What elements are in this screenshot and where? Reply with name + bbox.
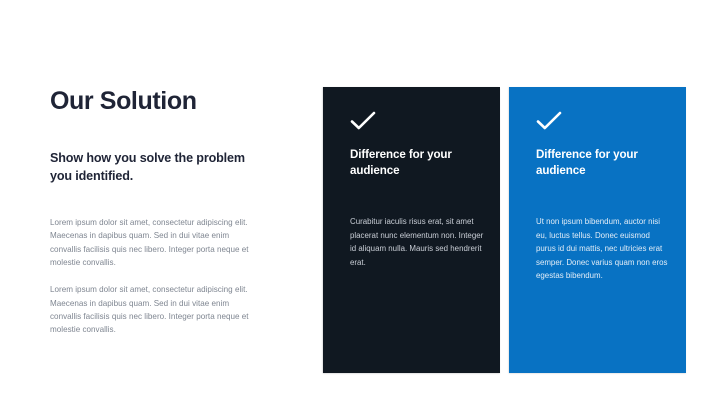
slide-canvas: Our Solution Show how you solve the prob… bbox=[0, 0, 713, 401]
page-title: Our Solution bbox=[50, 88, 275, 116]
body-text-block: Lorem ipsum dolor sit amet, consectetur … bbox=[50, 216, 262, 337]
feature-card-dark[interactable]: Difference for your audience Curabitur i… bbox=[323, 87, 500, 373]
card-body-text: Curabitur iaculis risus erat, sit amet p… bbox=[350, 215, 484, 269]
feature-card-blue[interactable]: Difference for your audience Ut non ipsu… bbox=[509, 87, 686, 373]
left-content-column: Our Solution Show how you solve the prob… bbox=[50, 88, 275, 116]
card-body-text: Ut non ipsum bibendum, auctor nisi eu, l… bbox=[536, 215, 670, 283]
check-icon bbox=[350, 111, 376, 131]
section-subheading: Show how you solve the problem you ident… bbox=[50, 150, 250, 186]
body-paragraph-2: Lorem ipsum dolor sit amet, consectetur … bbox=[50, 283, 262, 336]
card-heading: Difference for your audience bbox=[350, 147, 478, 180]
body-paragraph-1: Lorem ipsum dolor sit amet, consectetur … bbox=[50, 216, 262, 269]
card-heading: Difference for your audience bbox=[536, 147, 664, 180]
check-icon bbox=[536, 111, 562, 131]
